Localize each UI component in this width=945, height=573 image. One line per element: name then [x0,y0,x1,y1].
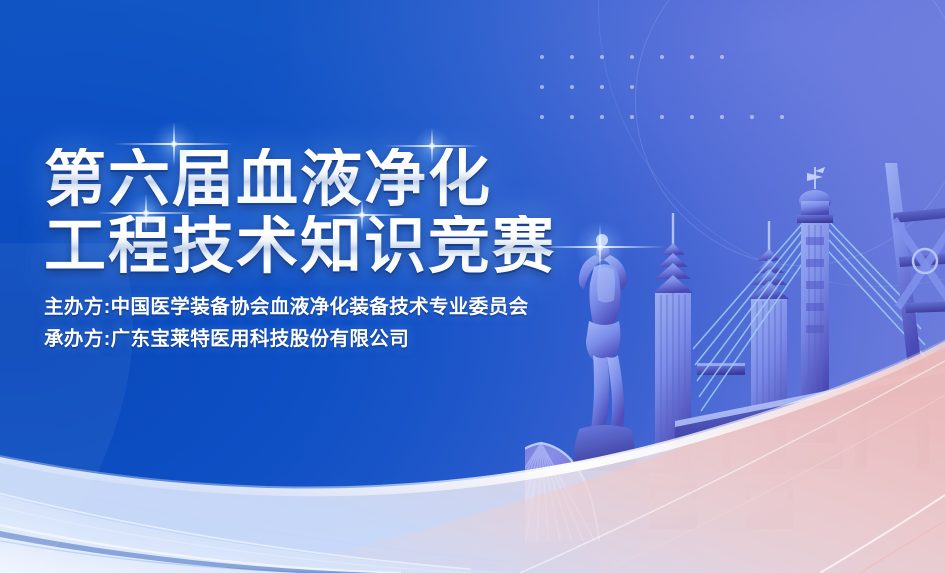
organizer-line-undertaker: 承办方:广东宝莱特医用科技股份有限公司 [44,324,664,356]
grid-dot [780,115,784,119]
poster-text-block: 第六届血液净化 工程技术知识竞赛 [44,148,664,356]
grid-dot [630,115,634,119]
event-title-line-2: 工程技术知识竞赛 [44,215,664,278]
grid-dot [540,85,544,89]
grid-dot [630,85,634,89]
grid-dot [540,55,544,59]
organizer-block: 主办方:中国医学装备协会血液净化装备技术专业委员会 承办方:广东宝莱特医用科技股… [44,292,664,355]
grid-dot [600,85,604,89]
event-title-line-1: 第六届血液净化 [44,148,664,211]
grid-dot [750,115,754,119]
grid-dot [630,55,634,59]
grid-dot [720,115,724,119]
dot-grid-row [540,85,810,115]
grid-dot [690,115,694,119]
decorative-dot-grid [540,55,810,145]
grid-dot [660,55,664,59]
grid-dot [540,115,544,119]
grid-dot [660,115,664,119]
grid-dot [690,55,694,59]
grid-dot [600,55,604,59]
event-poster-banner: 第六届血液净化 工程技术知识竞赛 [0,0,945,573]
grid-dot [570,85,574,89]
dot-grid-row [540,55,810,85]
grid-dot [600,115,604,119]
grid-dot [570,115,574,119]
organizer-line-host: 主办方:中国医学装备协会血液净化装备技术专业委员会 [44,292,664,324]
dot-grid-row [540,115,810,145]
grid-dot [570,55,574,59]
grid-dot [720,55,724,59]
